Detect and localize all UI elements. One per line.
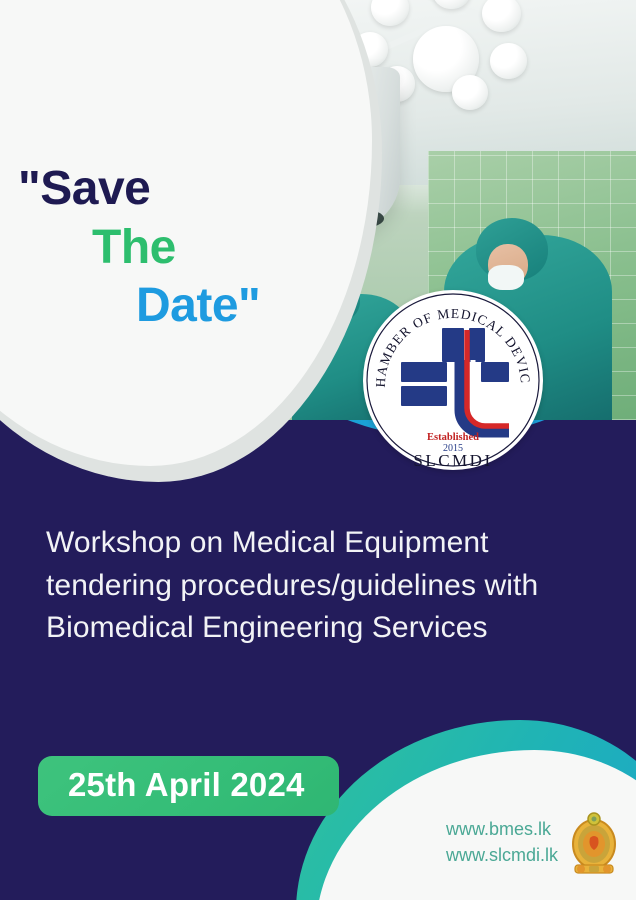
the-line: The (0, 219, 300, 278)
event-date-badge: 25th April 2024 (38, 756, 339, 816)
lamp-bulb (490, 43, 526, 79)
surgical-mask (488, 265, 524, 290)
lamp-bulb (452, 75, 488, 111)
save-line: "Save (0, 160, 300, 219)
slcmdi-url[interactable]: www.slcmdi.lk (446, 842, 558, 868)
save-the-date-heading: "Save The Date" (0, 160, 300, 336)
save-the-date-poster: "Save The Date" SRI LANKA CHAMBER OF MED… (0, 0, 636, 900)
workshop-headline: Workshop on Medical Equipment tendering … (46, 522, 594, 650)
date-line: Date" (0, 277, 300, 336)
svg-text:Established: Established (427, 432, 479, 443)
slcmdi-logo: SRI LANKA CHAMBER OF MEDICAL DEVICES IND… (363, 290, 543, 470)
bmes-url[interactable]: www.bmes.lk (446, 816, 558, 842)
lamp-bulb (482, 0, 520, 32)
svg-text:SLCMDI: SLCMDI (413, 451, 492, 470)
sri-lanka-government-emblem (566, 810, 622, 878)
footer-urls: www.bmes.lk www.slcmdi.lk (446, 816, 558, 868)
lamp-bulb (371, 0, 409, 26)
